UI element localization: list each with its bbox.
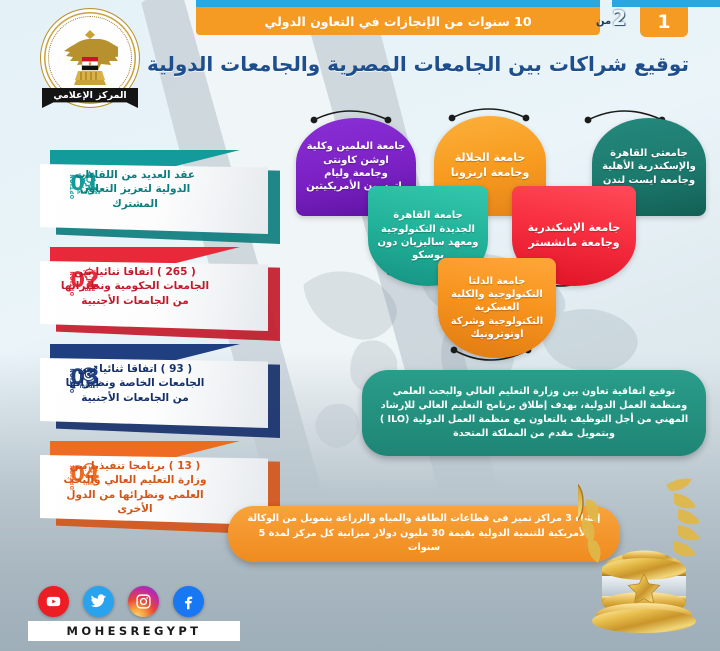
page-of-label: من bbox=[596, 16, 611, 28]
info-box-usaid: إنشاء 3 مراكز تميز فى قطاعات الطاقة والم… bbox=[228, 506, 620, 562]
partnership-petal-3-text: جامعتى القاهرة والإسكندرية الأهلية وجامع… bbox=[601, 147, 697, 187]
social-links bbox=[38, 586, 204, 617]
emblem-ribbon: المركز الإعلامي bbox=[34, 84, 146, 114]
info-box-usaid-text: إنشاء 3 مراكز تميز فى قطاعات الطاقة والم… bbox=[244, 512, 604, 555]
twitter-icon[interactable] bbox=[83, 586, 114, 617]
option-card-3[interactable]: TARGET OPTION 03 ( 93 ) اتفاقا ثنائيا بي… bbox=[22, 344, 280, 434]
egypt-eagle-emblem bbox=[62, 27, 118, 89]
page-number: 1 bbox=[657, 11, 670, 33]
social-handle: MOHESREGYPT bbox=[28, 621, 240, 641]
facebook-icon[interactable] bbox=[173, 586, 204, 617]
info-box-ilo: توقيع اتفاقية تعاون بين وزارة التعليم ال… bbox=[362, 370, 706, 456]
option-card-3-text: ( 93 ) اتفاقا ثنائيا بين الجامعات الخاصة… bbox=[56, 362, 214, 405]
youtube-icon[interactable] bbox=[38, 586, 69, 617]
top-accent-bar-blue-right bbox=[612, 0, 720, 7]
option-card-4-text: ( 13 ) برنامجا تنفيذيا بين وزارة التعليم… bbox=[56, 459, 214, 517]
info-box-ilo-text: توقيع اتفاقية تعاون بين وزارة التعليم ال… bbox=[378, 385, 690, 441]
top-banner-text: 10 سنوات من الإنجازات في التعاون الدولي bbox=[264, 14, 531, 29]
page-number-badge: 1 bbox=[640, 7, 688, 37]
page-title: توقيع شراكات بين الجامعات المصرية والجام… bbox=[138, 52, 698, 76]
partnership-petal-4-text: جامعة القاهرة الجديدة التكنولوجية ومعهد … bbox=[377, 209, 479, 262]
ministry-emblem: المركز الإعلامي bbox=[34, 8, 146, 108]
partnership-petal-6[interactable]: جامعة الدلتا التكنولوجية والكلية العسكري… bbox=[438, 258, 556, 358]
page-total: 2 bbox=[612, 8, 626, 28]
svg-text:10: 10 bbox=[578, 469, 586, 540]
option-card-2[interactable]: IDEA OPTION 02 ( 265 ) اتفاقا ثنائيا بين… bbox=[22, 247, 280, 337]
emblem-ribbon-text: المركز الإعلامي bbox=[34, 90, 146, 101]
option-card-1-text: عقد العديد من اللقاءات الدولية لتعزيز ال… bbox=[56, 168, 214, 211]
option-card-2-text: ( 265 ) اتفاقا ثنائيا بين الجامعات الحكو… bbox=[56, 265, 214, 308]
partnership-petal-5-text: جامعة الإسكندرية وجامعة مانشستر bbox=[521, 221, 627, 250]
top-banner: 10 سنوات من الإنجازات في التعاون الدولي bbox=[196, 7, 600, 35]
gold-trophy-icon: 10 bbox=[578, 469, 710, 639]
top-accent-bar-blue bbox=[196, 0, 600, 7]
partnership-petal-2-text: جامعة الجلالة وجامعة اريزونا bbox=[443, 151, 537, 180]
option-card-1[interactable]: PROCESS OPTION 01 عقد العديد من اللقاءات… bbox=[22, 150, 280, 240]
infographic-canvas: 10 سنوات من الإنجازات في التعاون الدولي … bbox=[0, 0, 720, 651]
page-indicator: 2 من bbox=[596, 8, 626, 28]
instagram-icon[interactable] bbox=[128, 586, 159, 617]
partnership-petal-6-text: جامعة الدلتا التكنولوجية والكلية العسكري… bbox=[447, 275, 547, 341]
